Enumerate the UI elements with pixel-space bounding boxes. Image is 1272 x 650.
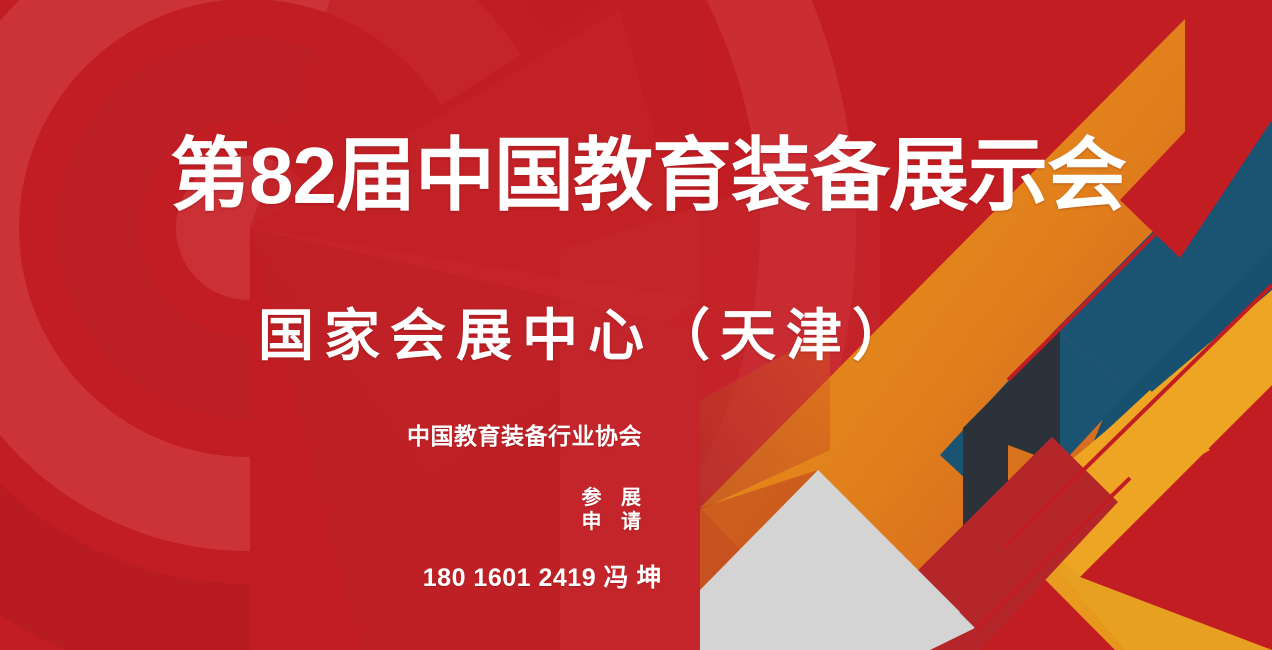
page-title: 第82届中国教育装备展示会	[0, 136, 1272, 216]
poster-text-layer: 第82届中国教育装备展示会 国家会展中心（天津） 中国教育装备行业协会 参 展 …	[0, 0, 1272, 650]
exhibition-poster: 第82届中国教育装备展示会 国家会展中心（天津） 中国教育装备行业协会 参 展 …	[0, 0, 1272, 650]
exhibit-application-cta[interactable]: 参 展 申 请	[0, 487, 1272, 534]
venue-subtitle: 国家会展中心（天津）	[0, 308, 1272, 364]
cta-line-apply: 申 请	[0, 511, 648, 535]
organizer-label: 中国教育装备行业协会	[0, 425, 1272, 448]
cta-line-exhibit: 参 展	[0, 487, 648, 511]
contact-phone: 180 1601 2419 冯 坤	[0, 566, 1272, 591]
